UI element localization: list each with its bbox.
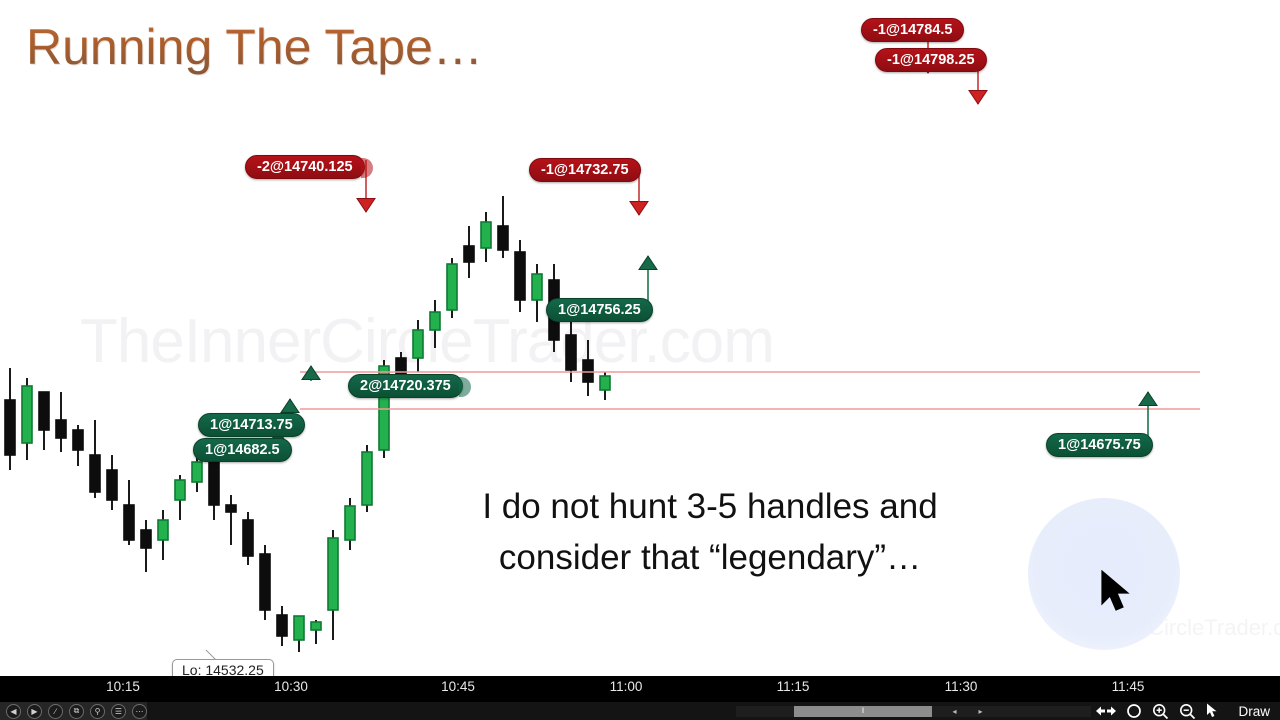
time-axis[interactable]: 10:1510:3010:4511:0011:1511:3011:45 [0,676,1280,702]
circle-icon[interactable] [1121,703,1147,719]
trade-label-text: 1@14713.75 [210,417,293,433]
time-tick-1130: 11:30 [945,679,978,694]
trade-label-sell-1-14798[interactable]: -1@14798.25 [875,48,987,72]
candle-body [192,462,202,482]
time-tick-1030: 10:30 [274,679,308,694]
scrollbar-grip: ‖ [862,708,866,715]
search-icon[interactable]: ⚲ [90,704,105,719]
scroll-left-arrow[interactable]: ◂ [948,707,960,716]
trade-label-text: 1@14675.75 [1058,437,1141,453]
trade-label-text: -1@14732.75 [541,162,629,178]
candle-body [481,222,491,248]
trade-label-text: -2@14740.125 [257,159,353,175]
zoom-out-icon[interactable] [1174,703,1201,720]
pencil-icon[interactable]: ∕ [48,704,63,719]
chart-scrollbar[interactable]: ‖ ◂ ▸ [736,706,1091,717]
slide-root: TheInnerCircleTrader.com TheInnerCircleT… [0,0,1280,720]
candle-series [5,196,610,652]
scroll-right-arrow[interactable]: ▸ [974,707,986,716]
forward-icon[interactable]: ▶ [27,704,42,719]
pan-icon[interactable] [1091,705,1121,717]
trade-label-buy-1-14756[interactable]: 1@14756.25 [546,298,653,322]
candle-body [107,470,117,500]
trade-label-text: -1@14798.25 [887,52,975,68]
candle-body [5,400,15,455]
candle-body [345,506,355,540]
mouse-cursor [1100,570,1134,616]
trade-label-sell-1-14732[interactable]: -1@14732.75 [529,158,641,182]
trade-label-text: 1@14682.5 [205,442,280,458]
left-tool-group[interactable]: ◀▶∕⧉⚲☰⋯ [0,702,147,720]
candle-body [124,505,134,540]
more-icon[interactable]: ⋯ [132,704,147,719]
candle-body [141,530,151,548]
candle-body [56,420,66,438]
zoom-in-icon[interactable] [1147,703,1174,720]
candle-body [226,505,236,512]
candle-body [22,386,32,443]
candle-body [294,616,304,640]
candle-body [566,335,576,370]
trade-label-buy-2-14720[interactable]: 2@14720.375 [348,374,463,398]
candle-body [600,376,610,390]
sell-arrow-icon [630,202,648,216]
candle-body [583,360,593,382]
scrollbar-thumb[interactable]: ‖ [794,706,932,717]
draw-label[interactable]: Draw [1224,704,1280,719]
candle-body [532,274,542,300]
bottom-toolbar[interactable]: ◀▶∕⧉⚲☰⋯ ‖ ◂ ▸ Draw [0,702,1280,720]
sell-arrow-icon [357,199,375,213]
candle-body [73,430,83,450]
pointer-icon[interactable] [1201,703,1224,719]
trade-label-text: 2@14720.375 [360,378,451,394]
buy-arrow-icon [281,399,299,413]
time-tick-1045: 10:45 [441,679,475,694]
trade-label-sell-2-14740[interactable]: -2@14740.125 [245,155,365,179]
candle-body [413,330,423,358]
trade-label-buy-1-14675[interactable]: 1@14675.75 [1046,433,1153,457]
candle-body [209,462,219,505]
sell-arrow-icon [969,91,987,105]
candle-body [515,252,525,300]
candle-body [498,226,508,250]
candle-body [39,392,49,430]
candle-body [464,246,474,262]
page-title: Running The Tape… [26,20,483,75]
trade-label-text: -1@14784.5 [873,22,952,38]
candle-body [243,520,253,556]
trade-label-text: 1@14756.25 [558,302,641,318]
caption-line-2: consider that “legendary”… [380,533,1040,584]
candle-body [260,554,270,610]
candle-body [175,480,185,500]
candle-body [158,520,168,540]
time-tick-1115: 11:15 [777,679,810,694]
trade-label-sell-1-14784[interactable]: -1@14784.5 [861,18,964,42]
candle-body [90,455,100,492]
time-tick-1100: 11:00 [610,679,643,694]
candle-body [430,312,440,330]
trade-label-buy-1-14713[interactable]: 1@14713.75 [198,413,305,437]
time-tick-1145: 11:45 [1112,679,1145,694]
buy-arrow-icon [639,256,657,270]
candle-body [277,615,287,636]
copy-icon[interactable]: ⧉ [69,704,84,719]
candle-body [362,452,372,505]
candle-body [447,264,457,310]
list-icon[interactable]: ☰ [111,704,126,719]
candle-body [328,538,338,610]
trade-label-buy-1-14682[interactable]: 1@14682.5 [193,438,292,462]
buy-arrow-icon [1139,392,1157,406]
caption-block: I do not hunt 3-5 handles and consider t… [380,482,1040,584]
back-icon[interactable]: ◀ [6,704,21,719]
time-tick-1015: 10:15 [106,679,140,694]
caption-line-1: I do not hunt 3-5 handles and [380,482,1040,533]
candle-body [311,622,321,630]
